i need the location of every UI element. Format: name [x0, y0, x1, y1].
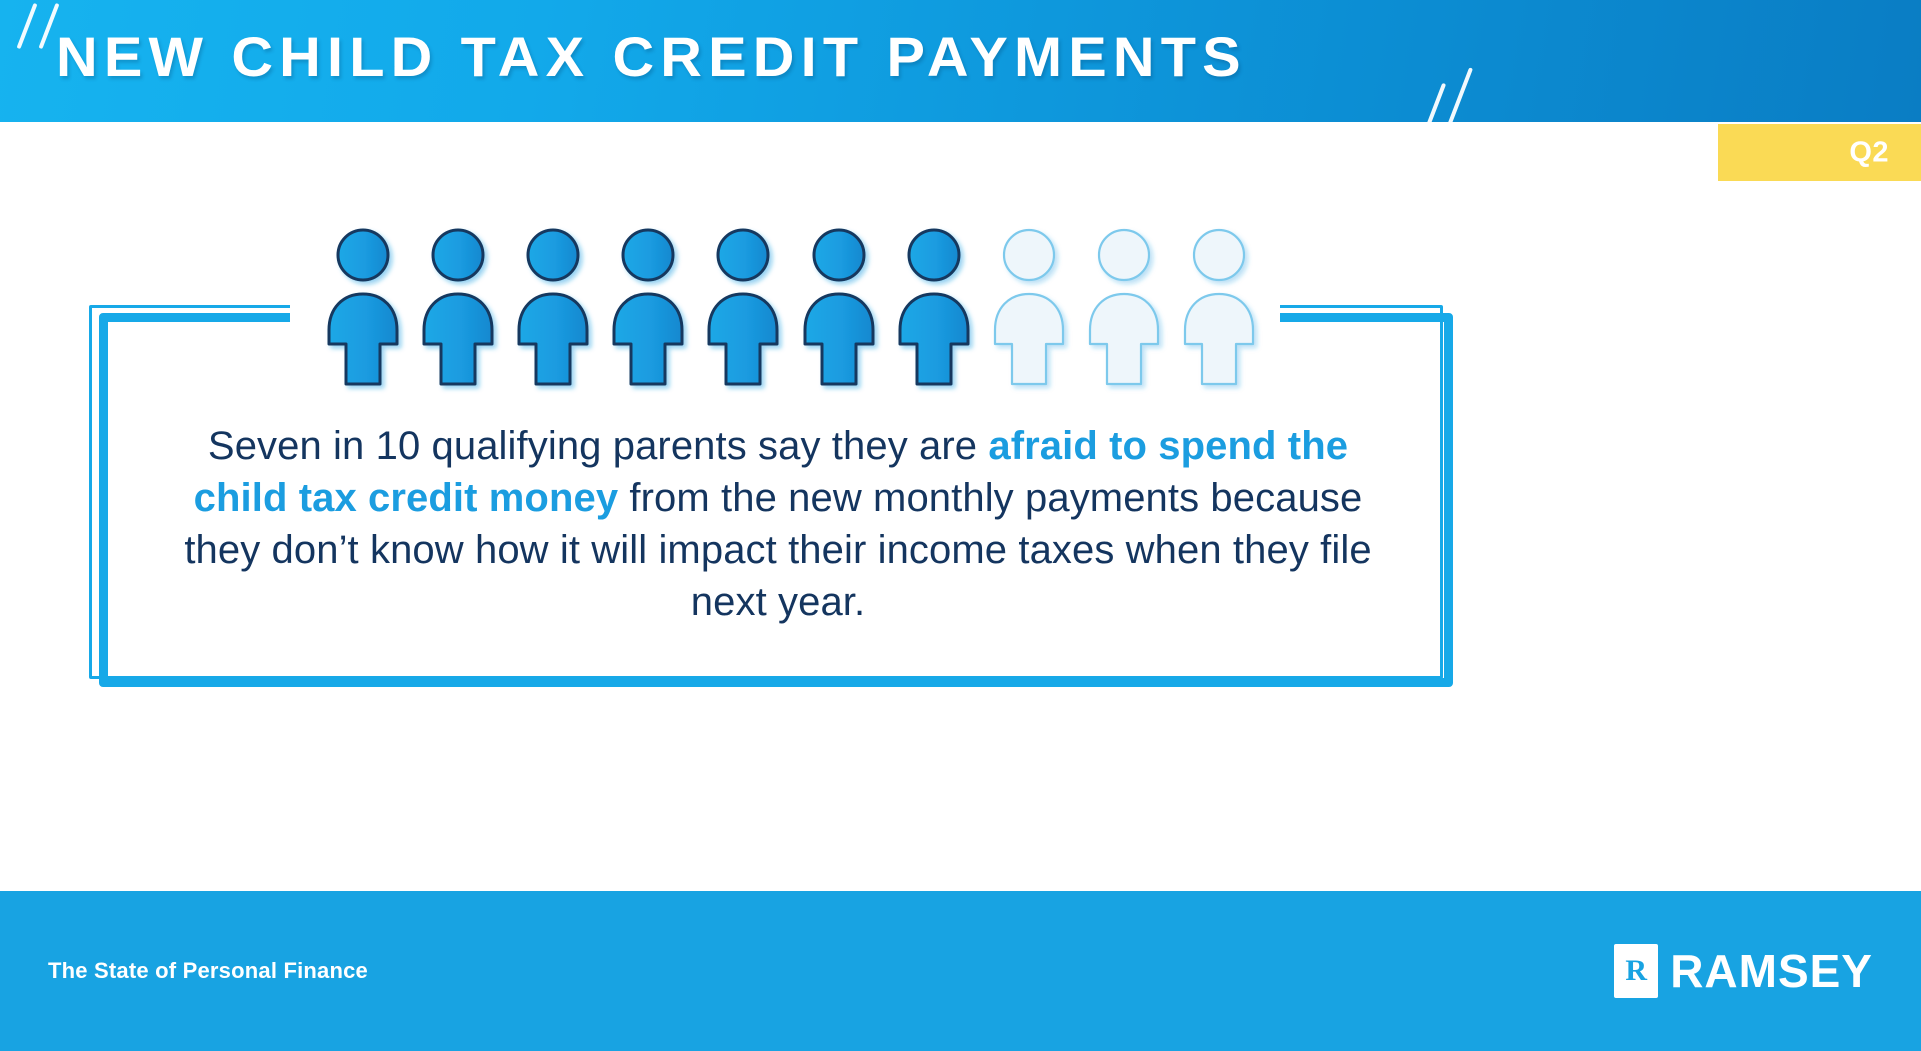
page-footer: The State of Personal Finance R RAMSEY [0, 891, 1921, 1051]
slash-decor-icon [1447, 67, 1473, 126]
person-body [900, 294, 968, 384]
person-icon-filled [516, 226, 590, 388]
person-icon-empty [1087, 226, 1161, 388]
slash-decor-icon [1426, 83, 1446, 127]
person-body [329, 294, 397, 384]
person-icon-filled [611, 226, 685, 388]
person-body [995, 294, 1063, 384]
person-head [1004, 230, 1054, 280]
person-head [623, 230, 673, 280]
person-body [1090, 294, 1158, 384]
person-body [805, 294, 873, 384]
person-body [424, 294, 492, 384]
person-body [519, 294, 587, 384]
person-head [433, 230, 483, 280]
person-head [528, 230, 578, 280]
page-header: NEW CHILD TAX CREDIT PAYMENTS [0, 0, 1921, 122]
person-body [1185, 294, 1253, 384]
statement-part-1: Seven in 10 qualifying parents say they … [208, 424, 988, 468]
person-head [814, 230, 864, 280]
person-icon-empty [992, 226, 1066, 388]
person-icon-filled [802, 226, 876, 388]
person-head [1194, 230, 1244, 280]
person-head [1099, 230, 1149, 280]
quarter-badge-label: Q2 [1849, 136, 1889, 169]
person-body [614, 294, 682, 384]
person-head [338, 230, 388, 280]
person-icon-empty [1182, 226, 1256, 388]
footer-tagline: The State of Personal Finance [48, 958, 368, 984]
brand-name: RAMSEY [1670, 944, 1873, 998]
quarter-badge: Q2 [1718, 124, 1921, 181]
person-icon-filled [897, 226, 971, 388]
person-icon-filled [421, 226, 495, 388]
person-icon-filled [326, 226, 400, 388]
person-body [709, 294, 777, 384]
ramsey-r-icon: R [1614, 944, 1658, 998]
pictogram-people-row [326, 226, 1256, 388]
person-head [909, 230, 959, 280]
slash-decor-icon [17, 3, 38, 49]
person-head [718, 230, 768, 280]
person-icon-filled [706, 226, 780, 388]
page-title: NEW CHILD TAX CREDIT PAYMENTS [56, 24, 1247, 89]
statement-text: Seven in 10 qualifying parents say they … [178, 420, 1378, 628]
header-right-decor [1420, 48, 1540, 168]
brand-logo: R RAMSEY [1614, 944, 1873, 998]
